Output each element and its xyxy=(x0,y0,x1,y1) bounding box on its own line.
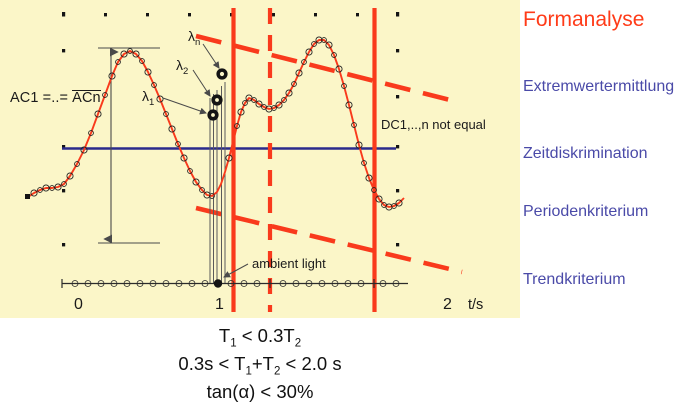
page-title: Formanalyse xyxy=(523,8,644,32)
ac-equal-overline-text: ACn xyxy=(72,90,101,106)
sidebar-item-periodenkriterium[interactable]: Periodenkriterium xyxy=(523,203,648,221)
signal-plot-panel: AC1 =..= ACn DC1,..,n not equal ambient … xyxy=(0,0,520,318)
lambda-1-label: λ1 xyxy=(142,88,154,108)
formula-2-pre: 0.3s < T xyxy=(178,353,245,374)
lambda-n-subscript: n xyxy=(195,37,200,48)
axis-unit-label: t/s xyxy=(468,297,483,313)
slide-root: AC1 =..= ACn DC1,..,n not equal ambient … xyxy=(0,0,697,407)
formula-1-pre: T xyxy=(219,325,230,346)
ambient-light-label: ambient light xyxy=(252,256,326,271)
right-tick-dots xyxy=(396,49,399,246)
formula-line-2: 0.3s < T1+T2 < 2.0 s xyxy=(178,352,341,380)
dc-not-equal-label: DC1,..,n not equal xyxy=(381,117,486,132)
sidebar-item-zeitdiskrimination[interactable]: Zeitdiskrimination xyxy=(523,145,647,163)
sidebar-item-trendkriterium[interactable]: Trendkriterium xyxy=(523,271,626,289)
lambda-2-glyph: λ xyxy=(176,57,183,73)
formula-1-sub2: 2 xyxy=(295,338,301,350)
top-tick-dots xyxy=(62,12,399,17)
formula-line-1: T1 < 0.3T2 xyxy=(219,324,301,352)
lambda-2-label: λ2 xyxy=(176,57,188,77)
formula-1-mid: < 0.3T xyxy=(237,325,295,346)
lower-trend-line xyxy=(196,208,462,272)
axis-tick-label-0: 0 xyxy=(74,296,83,314)
analysis-step-list: Formanalyse Extremwertermittlung Zeitdis… xyxy=(520,0,697,318)
lambda-n-glyph: λ xyxy=(188,28,195,44)
ac-equal-text: AC1 =..= xyxy=(10,90,72,106)
lambda-1-glyph: λ xyxy=(142,88,149,104)
axis-tick-label-1: 1 xyxy=(215,296,224,314)
lambda-leader-lines xyxy=(163,44,219,113)
ppg-waveform xyxy=(25,37,404,210)
sidebar-item-extremwertermittlung[interactable]: Extremwertermittlung xyxy=(523,78,674,96)
lambda-highlight-points xyxy=(208,69,227,120)
lambda-n-label: λn xyxy=(188,28,200,48)
formula-2-mid: +T xyxy=(252,353,274,374)
formula-2-post: < 2.0 s xyxy=(280,353,341,374)
formula-line-3: tan(α) < 30% xyxy=(207,380,314,404)
lambda-1-subscript: 1 xyxy=(149,97,154,108)
axis-tick-label-2: 2 xyxy=(443,296,452,314)
ac-equal-label: AC1 =..= ACn xyxy=(10,90,101,106)
lambda-2-subscript: 2 xyxy=(183,66,188,77)
ambient-light-leader xyxy=(224,264,248,277)
ambient-light-sample xyxy=(214,279,222,287)
criteria-formula-block: T1 < 0.3T2 0.3s < T1+T2 < 2.0 s tan(α) <… xyxy=(0,318,520,407)
